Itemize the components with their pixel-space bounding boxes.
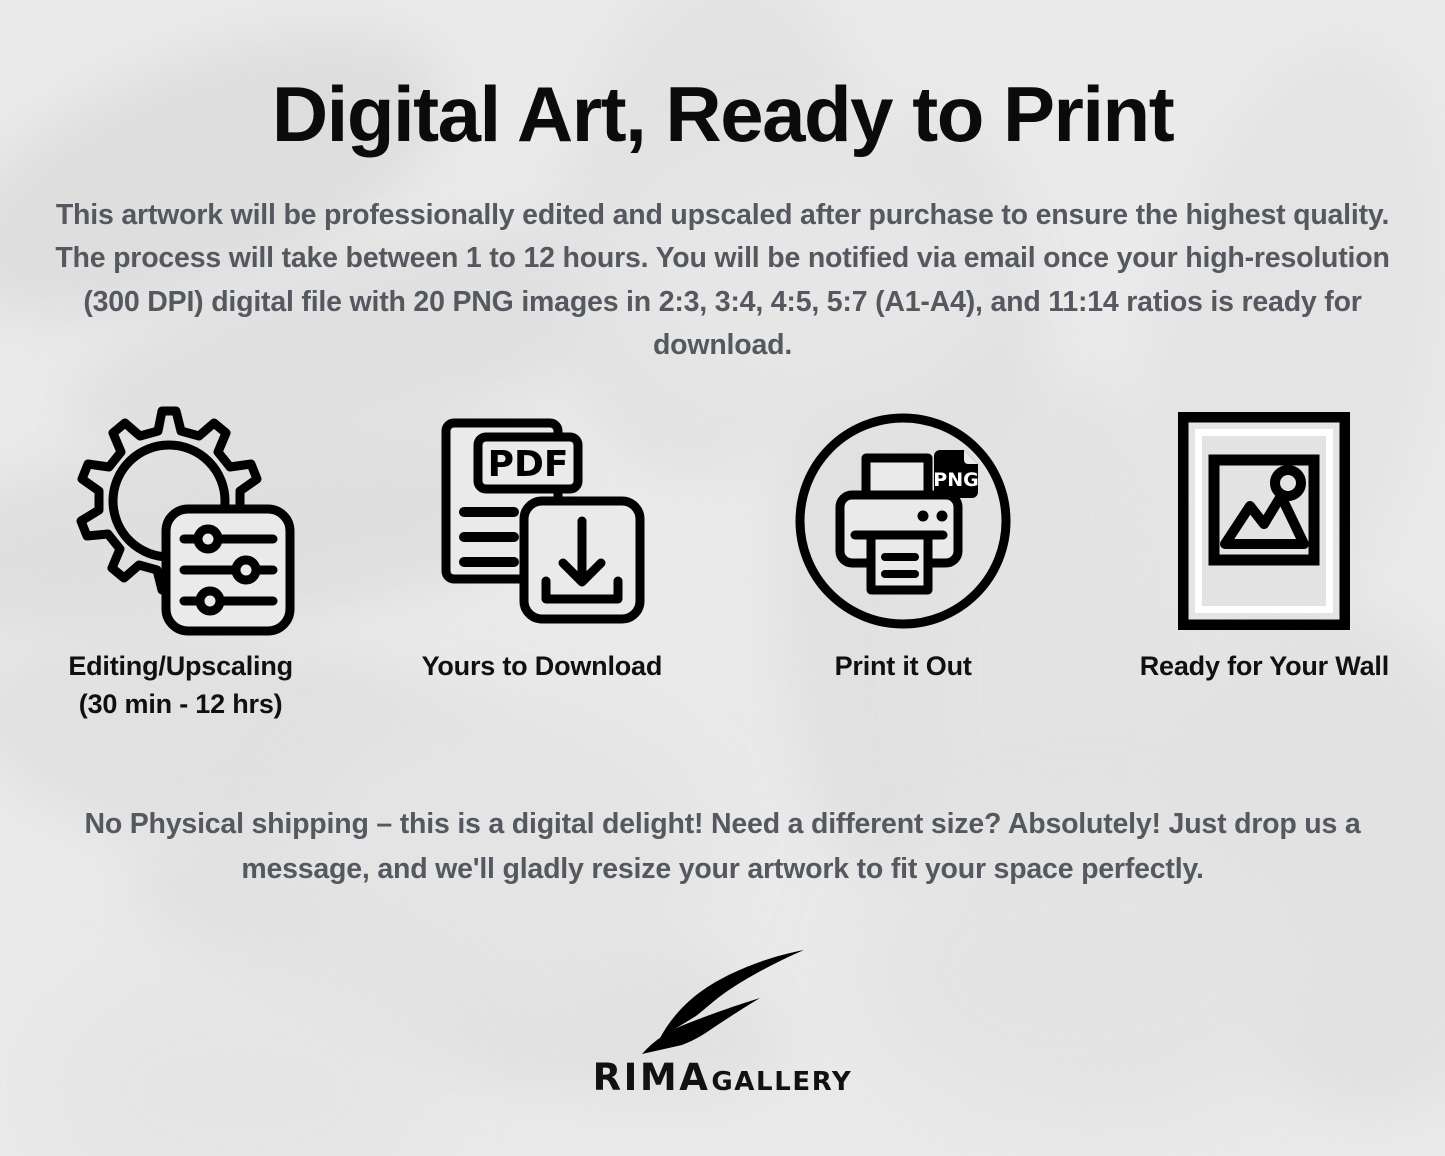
brand-logo: RIMA GALLERY [0, 942, 1445, 1099]
feature-label: Print it Out [835, 647, 972, 685]
outro-paragraph: No Physical shipping – this is a digital… [58, 802, 1388, 892]
page-title: Digital Art, Ready to Print [0, 0, 1445, 156]
rima-swoosh-logomark [608, 942, 838, 1054]
feature-ready-for-your-wall: Ready for Your Wall [1084, 401, 1445, 685]
printer-circle-icon: PNG [792, 401, 1014, 641]
intro-paragraph: This artwork will be professionally edit… [53, 194, 1393, 367]
promo-graphic: Digital Art, Ready to Print This artwork… [0, 0, 1445, 1156]
brand-name-secondary: GALLERY [711, 1067, 852, 1097]
feature-editing-upscaling: Editing/Upscaling (30 min - 12 hrs) [0, 401, 361, 724]
framed-picture-icon [1178, 401, 1350, 641]
pdf-download-icon: PDF [436, 401, 648, 641]
feature-label: Ready for Your Wall [1140, 647, 1389, 685]
pdf-badge-text: PDF [487, 444, 568, 485]
brand-name-primary: RIMA [593, 1056, 711, 1099]
feature-label: Yours to Download [422, 647, 663, 685]
png-badge-text: PNG [933, 469, 978, 491]
feature-label: Editing/Upscaling (30 min - 12 hrs) [68, 647, 293, 724]
feature-print-it-out: PNG Print it Out [723, 401, 1084, 685]
feature-yours-to-download: PDF Yours to Download [361, 401, 722, 685]
feature-row: Editing/Upscaling (30 min - 12 hrs) PDF [0, 401, 1445, 724]
brand-wordmark: RIMA GALLERY [593, 1056, 853, 1099]
gear-sliders-icon [62, 401, 300, 641]
